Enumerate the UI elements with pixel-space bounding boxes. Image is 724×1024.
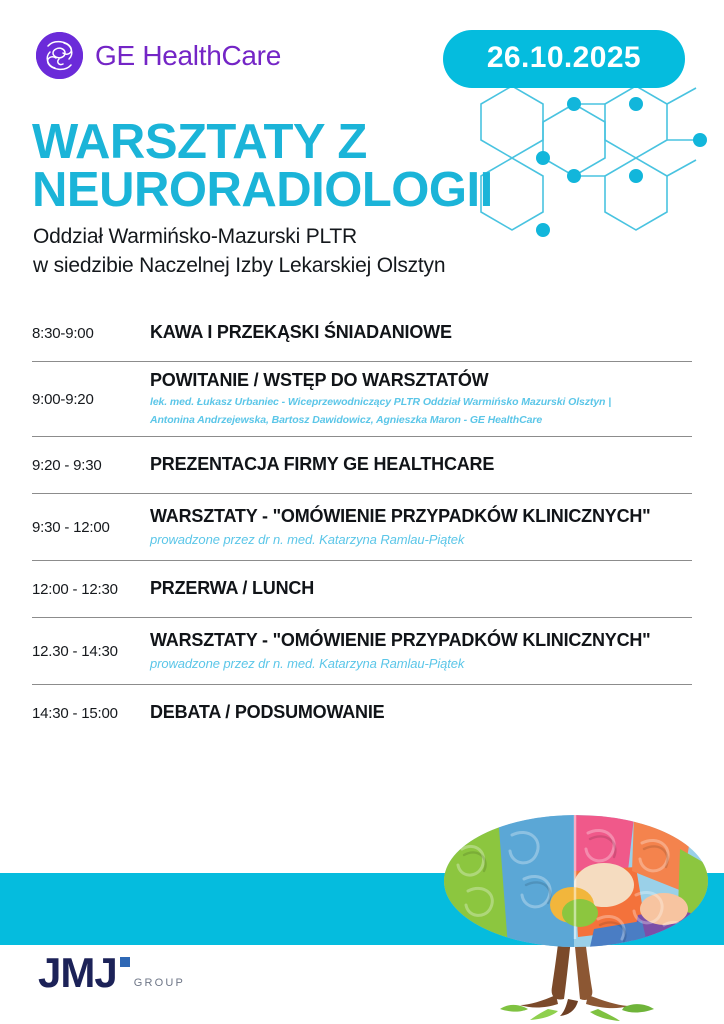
- schedule-body: KAWA I PRZEKĄSKI ŚNIADANIOWE: [150, 322, 692, 344]
- schedule-time: 12:00 - 12:30: [32, 581, 150, 598]
- schedule-body: PREZENTACJA FIRMY GE HEALTHCARE: [150, 454, 692, 476]
- ge-logo-text: GE HealthCare: [95, 40, 281, 72]
- schedule-title: WARSZTATY - "OMÓWIENIE PRZYPADKÓW KLINIC…: [150, 506, 692, 528]
- schedule-subtitle: lek. med. Łukasz Urbaniec - Wiceprzewodn…: [150, 395, 692, 410]
- jmj-logo-text: JMJ: [38, 955, 117, 991]
- schedule-body: PRZERWA / LUNCH: [150, 578, 692, 600]
- schedule-row: 12.30 - 14:30 WARSZTATY - "OMÓWIENIE PRZ…: [32, 618, 692, 684]
- page-subtitle: Oddział Warmińsko-Mazurski PLTR w siedzi…: [33, 223, 445, 281]
- grass-tuft: [500, 1004, 654, 1021]
- schedule-time: 14:30 - 15:00: [32, 705, 150, 722]
- schedule-title: PRZERWA / LUNCH: [150, 578, 692, 600]
- schedule-row: 9:30 - 12:00 WARSZTATY - "OMÓWIENIE PRZY…: [32, 494, 692, 560]
- title-line-2: NEURORADIOLOGII: [32, 166, 493, 214]
- schedule-title: POWITANIE / WSTĘP DO WARSZTATÓW: [150, 370, 692, 392]
- page-title: WARSZTATY Z NEURORADIOLOGII: [32, 118, 493, 214]
- schedule-time: 8:30-9:00: [32, 325, 150, 342]
- schedule-subtitle: prowadzone przez dr n. med. Katarzyna Ra…: [150, 531, 692, 549]
- schedule-body: DEBATA / PODSUMOWANIE: [150, 702, 692, 724]
- schedule-title: PREZENTACJA FIRMY GE HEALTHCARE: [150, 454, 692, 476]
- subtitle-line-2: w siedzibie Naczelnej Izby Lekarskiej Ol…: [33, 252, 445, 281]
- schedule-row: 14:30 - 15:00 DEBATA / PODSUMOWANIE: [32, 685, 692, 741]
- schedule-time: 9:20 - 9:30: [32, 457, 150, 474]
- jmj-group-text: GROUP: [134, 977, 185, 989]
- schedule-time: 12.30 - 14:30: [32, 643, 150, 660]
- schedule-subtitle: prowadzone przez dr n. med. Katarzyna Ra…: [150, 655, 692, 673]
- jmj-group-logo: JMJ GROUP: [38, 955, 185, 991]
- schedule-row: 9:00-9:20 POWITANIE / WSTĘP DO WARSZTATÓ…: [32, 362, 692, 436]
- ge-swirl-glyph: [36, 32, 83, 79]
- schedule-body: WARSZTATY - "OMÓWIENIE PRZYPADKÓW KLINIC…: [150, 506, 692, 548]
- ge-healthcare-logo: GE HealthCare: [36, 32, 281, 79]
- schedule-time: 9:00-9:20: [32, 391, 150, 408]
- schedule-list: 8:30-9:00 KAWA I PRZEKĄSKI ŚNIADANIOWE 9…: [32, 305, 692, 741]
- footer-accent-band: [0, 873, 724, 945]
- schedule-body: WARSZTATY - "OMÓWIENIE PRZYPADKÓW KLINIC…: [150, 630, 692, 672]
- schedule-time: 9:30 - 12:00: [32, 519, 150, 536]
- schedule-body: POWITANIE / WSTĘP DO WARSZTATÓW lek. med…: [150, 370, 692, 428]
- schedule-row: 8:30-9:00 KAWA I PRZEKĄSKI ŚNIADANIOWE: [32, 305, 692, 361]
- event-date-badge: 26.10.2025: [443, 30, 685, 88]
- schedule-title: DEBATA / PODSUMOWANIE: [150, 702, 692, 724]
- schedule-row: 12:00 - 12:30 PRZERWA / LUNCH: [32, 561, 692, 617]
- ge-monogram-icon: [36, 32, 83, 79]
- jmj-square-icon: [120, 957, 130, 967]
- schedule-row: 9:20 - 9:30 PREZENTACJA FIRMY GE HEALTHC…: [32, 437, 692, 493]
- poster-header: GE HealthCare 26.10.2025 WARSZTATY Z NEU…: [0, 0, 724, 300]
- schedule-subtitle-2: Antonina Andrzejewska, Bartosz Dawidowic…: [150, 413, 692, 428]
- subtitle-line-1: Oddział Warmińsko-Mazurski PLTR: [33, 223, 445, 252]
- schedule-title: WARSZTATY - "OMÓWIENIE PRZYPADKÓW KLINIC…: [150, 630, 692, 652]
- schedule-title: KAWA I PRZEKĄSKI ŚNIADANIOWE: [150, 322, 692, 344]
- title-line-1: WARSZTATY Z: [32, 115, 367, 169]
